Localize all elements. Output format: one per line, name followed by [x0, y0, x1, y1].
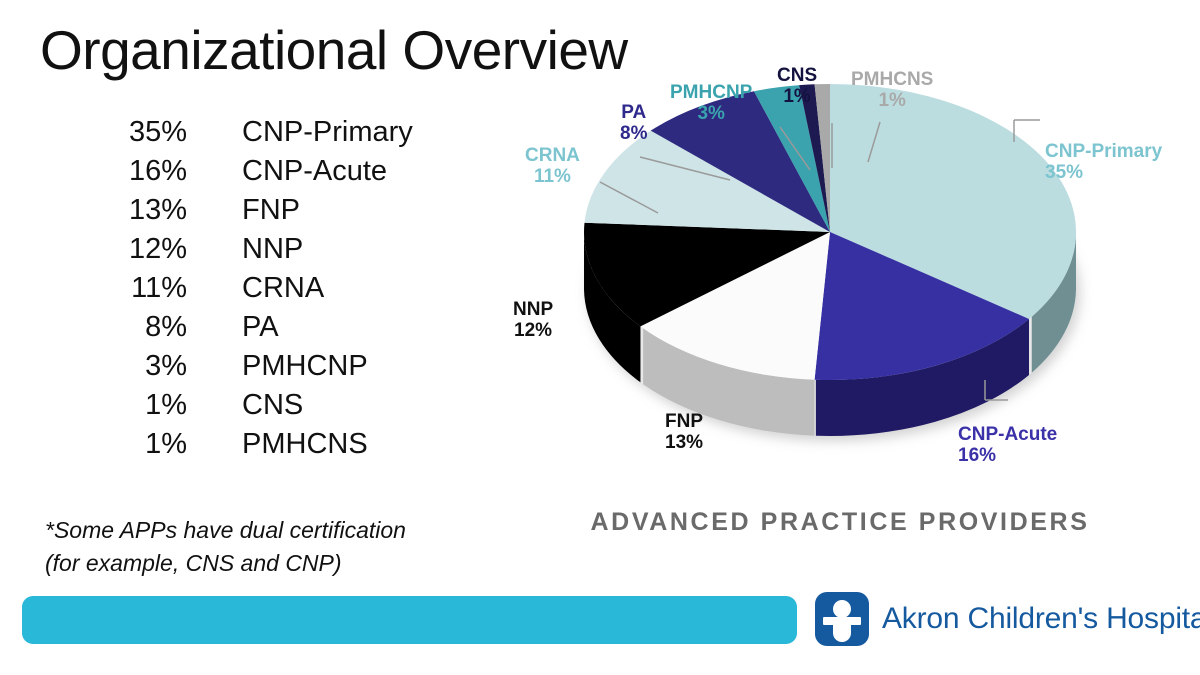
list-item: 8% PA [95, 311, 455, 350]
pie-chart-svg [480, 50, 1200, 550]
pie-label-name: PMHCNP [670, 83, 752, 104]
slide-canvas: Organizational Overview 35% CNP-Primary … [0, 0, 1200, 675]
statistics-list: 35% CNP-Primary 16% CNP-Acute 13% FNP 12… [95, 116, 455, 467]
stat-label: CRNA [187, 272, 324, 305]
pie-label-name: NNP [513, 300, 553, 321]
stat-percent: 16% [95, 155, 187, 188]
pie-label-name: PA [620, 103, 647, 124]
footnote: *Some APPs have dual certification (for … [45, 514, 406, 581]
pie-label-cnp-primary: CNP-Primary 35% [1045, 142, 1162, 184]
pie-label-pmhcnp: PMHCNP 3% [670, 83, 752, 125]
logo-body-shape [833, 625, 851, 642]
list-item: 35% CNP-Primary [95, 116, 455, 155]
pie-label-pa: PA 8% [620, 103, 647, 145]
pie-label-name: FNP [665, 412, 703, 433]
pie-label-name: CNP-Acute [958, 425, 1057, 446]
stat-percent: 13% [95, 194, 187, 227]
pie-label-value: 1% [777, 87, 817, 108]
pie-label-value: 35% [1045, 163, 1162, 184]
stat-percent: 8% [95, 311, 187, 344]
stat-label: CNP-Primary [187, 116, 413, 149]
stat-label: PA [187, 311, 279, 344]
pie-label-value: 13% [665, 433, 703, 454]
stat-label: CNP-Acute [187, 155, 387, 188]
pie-label-value: 12% [513, 321, 553, 342]
pie-label-value: 8% [620, 124, 647, 145]
pie-label-name: CNP-Primary [1045, 142, 1162, 163]
pie-label-cns: CNS 1% [777, 66, 817, 108]
pie-chart: CRNA 11% PA 8% PMHCNP 3% CNS 1% PMHCNS 1… [480, 50, 1200, 550]
pie-label-name: PMHCNS [851, 70, 933, 91]
pie-label-cnp-acute: CNP-Acute 16% [958, 425, 1057, 467]
footnote-line-2: (for example, CNS and CNP) [45, 547, 406, 580]
stat-label: FNP [187, 194, 300, 227]
pie-label-pmhcns: PMHCNS 1% [851, 70, 933, 112]
list-item: 1% CNS [95, 389, 455, 428]
pie-label-crna: CRNA 11% [525, 146, 580, 188]
pie-label-name: CNS [777, 66, 817, 87]
stat-label: CNS [187, 389, 303, 422]
stat-label: PMHCNS [187, 428, 368, 461]
pie-label-value: 1% [851, 91, 933, 112]
pie-label-fnp: FNP 13% [665, 412, 703, 454]
logo-arms-shape [823, 617, 861, 625]
logo-head-shape [833, 600, 851, 618]
pie-label-value: 16% [958, 446, 1057, 467]
stat-label: NNP [187, 233, 303, 266]
stat-label: PMHCNP [187, 350, 368, 383]
chart-title: ADVANCED PRACTICE PROVIDERS [480, 508, 1200, 537]
pie-label-name: CRNA [525, 146, 580, 167]
child-figure-icon [815, 592, 869, 646]
pie-label-value: 11% [525, 167, 580, 188]
list-item: 3% PMHCNP [95, 350, 455, 389]
stat-percent: 11% [95, 272, 187, 305]
footnote-line-1: *Some APPs have dual certification [45, 514, 406, 547]
list-item: 16% CNP-Acute [95, 155, 455, 194]
logo: Akron Children's Hospital [815, 592, 1200, 646]
logo-text: Akron Children's Hospital [882, 602, 1200, 636]
stat-percent: 1% [95, 428, 187, 461]
stat-percent: 12% [95, 233, 187, 266]
list-item: 13% FNP [95, 194, 455, 233]
pie-label-nnp: NNP 12% [513, 300, 553, 342]
list-item: 12% NNP [95, 233, 455, 272]
stat-percent: 1% [95, 389, 187, 422]
stat-percent: 35% [95, 116, 187, 149]
list-item: 11% CRNA [95, 272, 455, 311]
pie-label-value: 3% [670, 104, 752, 125]
stat-percent: 3% [95, 350, 187, 383]
list-item: 1% PMHCNS [95, 428, 455, 467]
accent-bar [22, 596, 797, 644]
